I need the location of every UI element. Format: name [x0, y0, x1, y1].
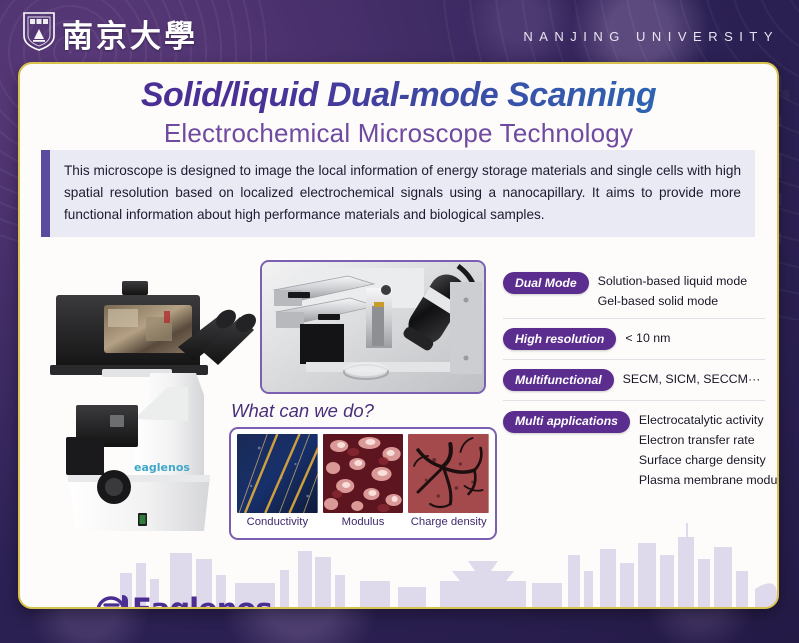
feature-row-dual-mode: Dual Mode Solution-based liquid mode Gel… — [503, 262, 765, 319]
university-name-english: NANJING UNIVERSITY — [523, 29, 779, 44]
feature-values: Solution-based liquid mode Gel-based sol… — [598, 271, 747, 309]
section-heading-what-can-we-do: What can we do? — [231, 400, 374, 422]
feature-values: SECM, SICM, SECCM··· — [623, 369, 761, 387]
inverted-microscope-photo: eaglenos — [42, 269, 257, 549]
result-tile: Modulus — [323, 434, 404, 528]
description-text: This microscope is designed to image the… — [64, 160, 741, 226]
university-shield-crest-icon — [22, 11, 56, 51]
feature-value: Surface charge density — [639, 453, 779, 468]
svg-text:eaglenos: eaglenos — [134, 461, 190, 474]
feature-pill: Dual Mode — [503, 272, 589, 294]
tile-caption: Modulus — [342, 516, 385, 528]
feature-value: SECM, SICM, SECCM··· — [623, 372, 761, 387]
feature-list: Dual Mode Solution-based liquid mode Gel… — [503, 262, 765, 497]
feature-value: Electrocatalytic activity — [639, 413, 779, 428]
description-box: This microscope is designed to image the… — [41, 150, 755, 237]
tile-caption: Conductivity — [247, 516, 309, 528]
result-tile: Conductivity — [237, 434, 318, 528]
feature-row-high-resolution: High resolution < 10 nm — [503, 319, 765, 360]
feature-value: Electron transfer rate — [639, 433, 779, 448]
tile-caption: Charge density — [411, 516, 487, 528]
feature-pill: High resolution — [503, 328, 616, 350]
feature-row-multifunctional: Multifunctional SECM, SICM, SECCM··· — [503, 360, 765, 401]
feature-value: Solution-based liquid mode — [598, 274, 747, 289]
feature-values: Electrocatalytic activity Electron trans… — [639, 410, 779, 489]
content-card: Solid/liquid Dual-mode Scanning Electroc… — [18, 62, 779, 609]
conductivity-scan-map — [237, 434, 318, 513]
result-tile: Charge density — [408, 434, 489, 528]
feature-value: Gel-based solid mode — [598, 294, 747, 309]
eaglenos-e-mark-icon — [96, 592, 130, 609]
modulus-scan-map — [323, 434, 404, 513]
feature-values: < 10 nm — [625, 328, 670, 346]
result-tiles: Conductivity — [229, 427, 497, 540]
brand-logo: Eaglenos — [96, 592, 272, 609]
poster: NJU 南京大學 NANJING UNIVERSITY — [0, 0, 799, 643]
university-name-chinese: 南京大學 — [62, 11, 198, 53]
feature-value: < 10 nm — [625, 331, 670, 346]
feature-value: Plasma membrane modulus — [639, 473, 779, 488]
feature-row-multi-applications: Multi applications Electrocatalytic acti… — [503, 401, 765, 498]
brand-name: Eaglenos — [132, 592, 272, 609]
feature-pill: Multi applications — [503, 411, 630, 433]
page-subtitle: Electrochemical Microscope Technology — [20, 118, 777, 149]
page-header: 南京大學 NANJING UNIVERSITY — [0, 0, 799, 62]
page-title: Solid/liquid Dual-mode Scanning — [20, 76, 777, 115]
feature-pill: Multifunctional — [503, 369, 614, 391]
charge-density-scan-map — [408, 434, 489, 513]
scanner-stage-closeup-photo — [260, 260, 486, 394]
